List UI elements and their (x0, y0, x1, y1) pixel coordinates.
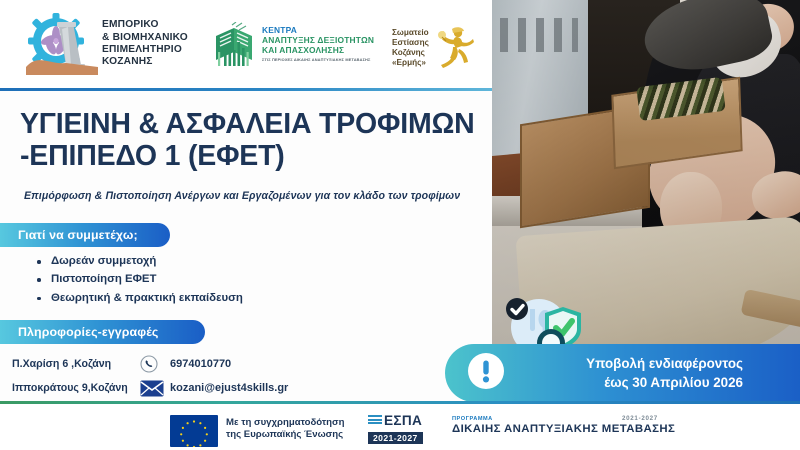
promotional-banner: ΕΜΠΟΡΙΚΟ & ΒΙΟΜΗΧΑΝΙΚΟ ΕΠΙΜΕΛΗΤΗΡΙΟ ΚΟΖΑ… (0, 0, 800, 450)
chamber-line-3: ΕΠΙΜΕΛΗΤΗΡΙΟ (102, 44, 188, 56)
chamber-line-2: & ΒΙΟΜΗΧΑΝΙΚΟ (102, 32, 188, 44)
espa-years: 2021-2027 (368, 432, 423, 444)
list-item: Πιστοποίηση ΕΦΕΤ (34, 270, 243, 288)
benefits-list: Δωρεάν συμμετοχή Πιστοποίηση ΕΦΕΤ Θεωρητ… (34, 252, 243, 307)
why-participate-label: Γιατί να συμμετέχω; (0, 228, 154, 242)
eu-funding-text: Με τη συγχρηματοδότηση της Ευρωπαϊκής Έν… (226, 417, 344, 442)
contact-block: Π.Χαρίση 6 ,Κοζάνη 6974010770 Ιπποκράτου… (12, 352, 342, 400)
email-icon (140, 380, 170, 397)
deadline-line-1: Υποβολή ενδιαφέροντος (547, 354, 743, 373)
deadline-line-2: έως 30 Απριλίου 2026 (547, 373, 743, 392)
hermes-line-3: Κοζάνης (392, 48, 429, 58)
skills-logo-text: ΚΕΝΤΡΑ ΑΝΑΠΤΥΞΗΣ ΔΕΞΙΟΤΗΤΩΝ ΚΑΙ ΑΠΑΣΧΟΛΗ… (262, 26, 374, 61)
chamber-line-1: ΕΜΠΟΡΙΚΟ (102, 19, 188, 31)
info-registration-label: Πληροφορίες-εγγραφές (0, 325, 174, 339)
info-registration-pill: Πληροφορίες-εγγραφές (0, 320, 205, 344)
list-item: Θεωρητική & πρακτική εκπαίδευση (34, 289, 243, 307)
chamber-logo-text: ΕΜΠΟΡΙΚΟ & ΒΙΟΜΗΧΑΝΙΚΟ ΕΠΙΜΕΛΗΤΗΡΙΟ ΚΟΖΑ… (102, 19, 188, 69)
exclamation-icon (467, 352, 505, 395)
address-line-1: Π.Χαρίση 6 ,Κοζάνη (12, 358, 140, 370)
deadline-banner: Υποβολή ενδιαφέροντος έως 30 Απριλίου 20… (445, 344, 800, 402)
hermes-line-4: «Ερμής» (392, 58, 429, 68)
skills-line-3: ΚΑΙ ΑΠΑΣΧΟΛΗΣΗΣ (262, 46, 374, 56)
eu-funding-line-2: της Ευρωπαϊκής Ένωσης (226, 429, 344, 441)
deadline-text: Υποβολή ενδιαφέροντος έως 30 Απριλίου 20… (547, 354, 743, 392)
phone-number[interactable]: 6974010770 (170, 358, 231, 370)
check-circle-icon (506, 298, 528, 320)
page-title: ΥΓΙΕΙΝΗ & ΑΣΦΑΛΕΙΑ ΤΡΟΦΙΜΩΝ -ΕΠΙΠΕΔΟ 1 (… (20, 108, 490, 172)
hermes-line-2: Εστίασης (392, 38, 429, 48)
funding-footer: Με τη συγχρηματοδότηση της Ευρωπαϊκής Έν… (0, 404, 800, 450)
email-address[interactable]: kozani@ejust4skills.gr (170, 382, 288, 394)
chamber-emblem-icon (26, 13, 98, 75)
partner-logos-row: ΕΜΠΟΡΙΚΟ & ΒΙΟΜΗΧΑΝΙΚΟ ΕΠΙΜΕΛΗΤΗΡΙΟ ΚΟΖΑ… (0, 0, 492, 89)
programme-title: ΔΙΚΑΙΗΣ ΑΝΑΠΤΥΞΙΑΚΗΣ ΜΕΤΑΒΑΣΗΣ (452, 423, 675, 435)
hermes-catering-association-logo: Σωματείο Εστίασης Κοζάνης «Ερμής» (392, 26, 476, 70)
contact-row-phone: Π.Χαρίση 6 ,Κοζάνη 6974010770 (12, 352, 342, 376)
address-line-2: Ιπποκράτους 9,Κοζάνη (12, 382, 140, 394)
eu-funding-line-1: Με τη συγχρηματοδότηση (226, 417, 344, 429)
programme-years: 2021-2027 (622, 415, 658, 422)
skills-subtitle: ΣΤΙΣ ΠΕΡΙΟΧΕΣ ΔΙΚΑΙΗΣ ΑΝΑΠΤΥΞΙΑΚΗΣ ΜΕΤΑΒ… (262, 57, 374, 62)
chamber-line-4: ΚΟΖΑΝΗΣ (102, 56, 188, 68)
kozani-chamber-logo: ΕΜΠΟΡΙΚΟ & ΒΙΟΜΗΧΑΝΙΚΟ ΕΠΙΜΕΛΗΤΗΡΙΟ ΚΟΖΑ… (26, 13, 188, 75)
espa-bars-icon (368, 415, 382, 426)
list-item: Δωρεάν συμμετοχή (34, 252, 243, 270)
phone-icon (140, 355, 170, 373)
contact-row-email: Ιπποκράτους 9,Κοζάνη kozani@ejust4skills… (12, 376, 342, 400)
hermes-logo-text: Σωματείο Εστίασης Κοζάνης «Ερμής» (392, 28, 429, 68)
page-subtitle: Επιμόρφωση & Πιστοποίηση Ανέργων και Εργ… (24, 190, 484, 202)
eu-flag-icon (170, 415, 218, 447)
espa-name: ΕΣΠΑ (384, 413, 422, 428)
hermes-line-1: Σωματείο (392, 28, 429, 38)
skills-and-employment-centres-logo: ΚΕΝΤΡΑ ΑΝΑΠΤΥΞΗΣ ΔΕΞΙΟΤΗΤΩΝ ΚΑΙ ΑΠΑΣΧΟΛΗ… (212, 22, 374, 66)
hermes-figure-icon (432, 26, 476, 70)
espa-logo: ΕΣΠΑ 2021-2027 Ευρωπαϊκά Διαρθρωτικά και… (368, 413, 454, 449)
open-book-icon (212, 22, 258, 66)
why-participate-pill: Γιατί να συμμετέχω; (0, 223, 170, 247)
header-divider (0, 88, 492, 91)
